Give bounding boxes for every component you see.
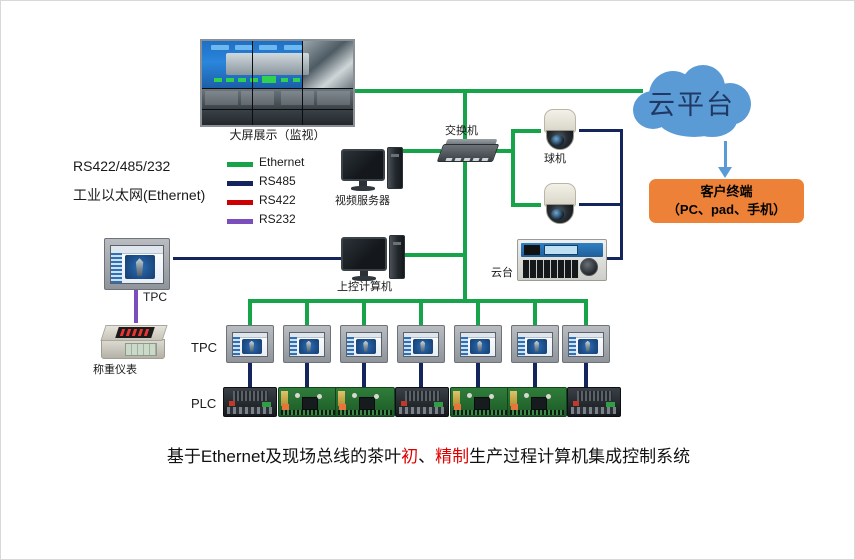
client-terminal-box: 客户终端 （PC、pad、手机） bbox=[649, 179, 804, 223]
caption-highlight-2: 精制 bbox=[435, 447, 469, 466]
dome-camera-1 bbox=[540, 109, 580, 153]
tpc-row-label: TPC bbox=[191, 341, 217, 356]
switch-label: 交换机 bbox=[445, 125, 478, 138]
tpc-unit-4 bbox=[397, 325, 445, 363]
legend-label-rs422: RS422 bbox=[259, 194, 296, 208]
ptz-label: 云台 bbox=[491, 267, 513, 280]
tpc-unit-7 bbox=[562, 325, 610, 363]
caption-highlight-1: 初 bbox=[401, 447, 418, 466]
rs485-right-riser bbox=[620, 129, 623, 259]
tpc-unit-1 bbox=[226, 325, 274, 363]
video-wall-display bbox=[200, 39, 355, 127]
network-label: 工业以太网(Ethernet) bbox=[73, 187, 205, 203]
plc-link-5 bbox=[476, 363, 480, 389]
ethernet-switch-downlink bbox=[463, 161, 467, 301]
plc-unit-6 bbox=[507, 387, 567, 417]
rs485-camera1-lead bbox=[579, 129, 623, 132]
cloud-client-arrowhead bbox=[718, 167, 732, 178]
tpc-drop-2 bbox=[305, 299, 309, 325]
tpc-drop-6 bbox=[533, 299, 537, 325]
client-terminal-line2: （PC、pad、手机） bbox=[649, 201, 804, 219]
rs485-hmi-host-link bbox=[173, 257, 343, 260]
diagram-canvas: 大屏展示（监视） RS422/485/232 工业以太网(Ethernet) E… bbox=[0, 0, 855, 560]
cloud-client-arrow-shaft bbox=[724, 141, 727, 169]
legend-swatch-rs422 bbox=[227, 200, 253, 205]
legend-swatch-rs232 bbox=[227, 219, 253, 224]
video-wall-label: 大屏展示（监视） bbox=[200, 129, 355, 143]
ethernet-camera1-branch bbox=[511, 129, 541, 133]
tpc-drop-7 bbox=[584, 299, 588, 325]
plc-unit-2 bbox=[278, 387, 338, 417]
plc-unit-7 bbox=[567, 387, 621, 417]
plc-link-6 bbox=[533, 363, 537, 389]
tpc-drop-4 bbox=[419, 299, 423, 325]
plc-unit-5 bbox=[450, 387, 510, 417]
tpc-unit-5 bbox=[454, 325, 502, 363]
weighing-instrument bbox=[99, 321, 169, 363]
plc-link-7 bbox=[584, 363, 588, 389]
plc-link-2 bbox=[305, 363, 309, 389]
caption-mid: 、 bbox=[418, 447, 435, 466]
plc-unit-3 bbox=[335, 387, 395, 417]
cloud-platform-label: 云平台 bbox=[629, 83, 754, 122]
hmi-touch-panel bbox=[104, 238, 170, 290]
ethernet-host-link bbox=[401, 253, 465, 257]
protocols-label: RS422/485/232 bbox=[73, 158, 170, 174]
plc-link-4 bbox=[419, 363, 423, 389]
diagram-caption: 基于Ethernet及现场总线的茶叶初、精制生产过程计算机集成控制系统 bbox=[1, 442, 855, 467]
ethernet-fieldbus-trunk bbox=[248, 299, 588, 303]
client-terminal-line1: 客户终端 bbox=[649, 183, 804, 201]
tpc-unit-3 bbox=[340, 325, 388, 363]
plc-unit-4 bbox=[395, 387, 449, 417]
legend-label-ethernet: Ethernet bbox=[259, 156, 304, 170]
video-server-label: 视频服务器 bbox=[335, 195, 390, 208]
tpc-drop-5 bbox=[476, 299, 480, 325]
legend-label-rs232: RS232 bbox=[259, 213, 296, 227]
host-computer-label: 上控计算机 bbox=[337, 281, 392, 294]
network-switch bbox=[438, 138, 496, 164]
plc-link-1 bbox=[248, 363, 252, 389]
weighing-instrument-label: 称重仪表 bbox=[93, 364, 137, 377]
tpc-drop-3 bbox=[362, 299, 366, 325]
caption-part1: 基于Ethernet及现场总线的茶叶 bbox=[167, 447, 401, 466]
legend-label-rs485: RS485 bbox=[259, 175, 296, 189]
legend-swatch-rs485 bbox=[227, 181, 253, 186]
camera1-label: 球机 bbox=[544, 153, 566, 166]
plc-row-label: PLC bbox=[191, 397, 216, 412]
plc-link-3 bbox=[362, 363, 366, 389]
plc-unit-1 bbox=[223, 387, 277, 417]
ethernet-camera2-branch bbox=[511, 203, 541, 207]
rs485-camera2-lead bbox=[579, 203, 623, 206]
tpc-unit-6 bbox=[511, 325, 559, 363]
caption-part2: 生产过程计算机集成控制系统 bbox=[469, 447, 690, 466]
ptz-control-keyboard bbox=[517, 239, 607, 281]
tpc-drop-1 bbox=[248, 299, 252, 325]
ethernet-server-switch bbox=[401, 149, 441, 153]
hmi-tpc-label: TPC bbox=[143, 291, 167, 305]
ethernet-trunk-top bbox=[353, 89, 643, 93]
tpc-unit-2 bbox=[283, 325, 331, 363]
legend-swatch-ethernet bbox=[227, 162, 253, 167]
ethernet-camera-riser bbox=[511, 129, 515, 207]
dome-camera-2 bbox=[540, 183, 580, 227]
